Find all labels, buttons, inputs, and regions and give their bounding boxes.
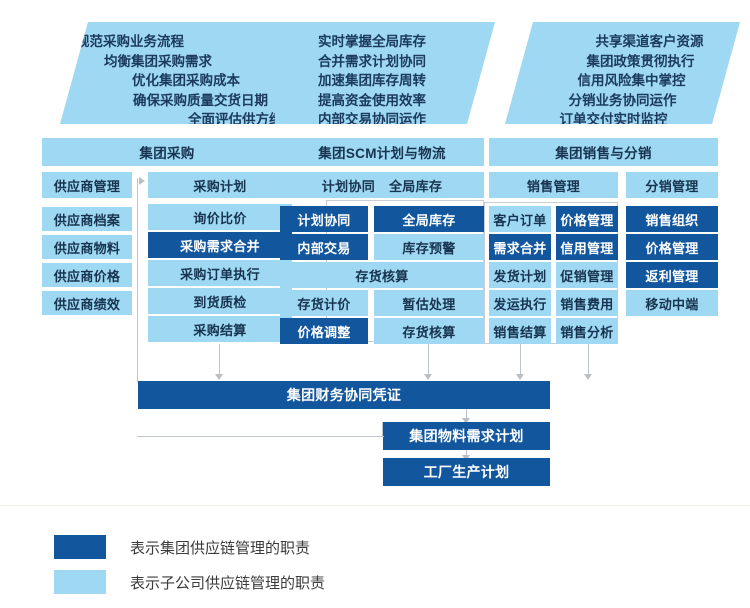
distribution-item[interactable]: 价格管理 [626,234,718,260]
banner-line: 订单交付实时监控 [487,110,740,130]
supplier-item[interactable]: 供应商绩效 [42,291,132,315]
scm-item[interactable]: 存货核算 [374,318,484,344]
legend-label-subsidiary: 表示子公司供应链管理的职责 [130,572,325,593]
distribution-header[interactable]: 分销管理 [626,172,718,198]
supplier-item[interactable]: 供应商价格 [42,263,132,287]
distribution-item[interactable]: 销售组织 [626,206,718,232]
connector-line-scm-to-finance [428,344,429,376]
diagram-canvas: 规范采购业务流程 均衡集团采购需求 优化集团采购成本 确保采购质量交货日期 全面… [0,0,750,608]
connector-arrow-sales2-to-finance [584,374,592,380]
legend-swatch-subsidiary [54,570,106,594]
scm-subheader-bar: 计划协同 全局库存 [280,172,484,198]
column-header-scm: 集团SCM计划与物流 [280,138,484,166]
purchase-item[interactable]: 询价比价 [148,204,292,230]
connector-line-sales2-to-finance [588,344,589,376]
banner-procurement-goals: 规范采购业务流程 均衡集团采购需求 优化集团采购成本 确保采购质量交货日期 全面… [60,22,310,124]
banner-line: 合并需求计划协同 [275,52,469,72]
scm-item[interactable]: 价格调整 [280,318,368,344]
scm-subheader-left: 计划协同 [322,176,375,195]
legend-label-group: 表示集团供应链管理的职责 [130,537,310,558]
banner-line: 集团政策贯彻执行 [505,52,740,72]
connector-arrow-sales-to-finance [516,374,524,380]
banner-line: 内部交易协同运作 [275,110,469,130]
connector-line-purchase-rail [137,178,138,382]
legend-row-group: 表示集团供应链管理的职责 [54,535,310,559]
banner-line: 规范采购业务流程 [74,32,296,52]
connector-line-purchase-to-finance [219,344,220,376]
banner-line: 全面评估供方绩效 [74,110,296,130]
supplier-item[interactable]: 供应商物料 [42,235,132,259]
banner-line: 确保采购质量交货日期 [74,91,296,111]
scm-subheader-right: 全局库存 [389,176,442,195]
material-requirement-plan-bar[interactable]: 集团物料需求计划 [383,422,550,450]
sales-item[interactable]: 发货计划 [489,262,551,288]
banner-line: 均衡集团采购需求 [74,52,296,72]
purchase-item[interactable]: 采购需求合并 [148,232,292,258]
purchase-item[interactable]: 采购订单执行 [148,260,292,286]
banner-scm-goals: 实时掌握全局库存 合并需求计划协同 加速集团库存周转 提高资金使用效率 内部交易… [275,22,495,124]
banner-line: 信用风险集中掌控 [505,71,740,91]
banner-line: 加速集团库存周转 [275,71,469,91]
banner-line: 提高资金使用效率 [275,91,469,111]
column-header-sales: 集团销售与分销 [489,138,718,166]
purchase-item[interactable]: 采购结算 [148,316,292,342]
connector-arrow-scm-to-finance [424,374,432,380]
sales-item[interactable]: 销售费用 [556,290,618,316]
sales-management-header[interactable]: 销售管理 [489,172,618,198]
banner-line: 共享渠道客户资源 [505,32,740,52]
banner-line: 实时掌握全局库存 [275,32,469,52]
banner-line: 优化集团采购成本 [74,71,296,91]
connector-line-feedback-riser [382,422,383,436]
sales-item[interactable]: 促销管理 [556,262,618,288]
distribution-item[interactable]: 移动中端 [626,290,718,316]
purchase-header[interactable]: 采购计划 [148,172,292,198]
legend-swatch-group [54,535,106,559]
connector-line-sales-to-finance [520,344,521,376]
scm-item[interactable]: 存货计价 [280,290,368,316]
connector-arrow-purchase-to-finance [215,374,223,380]
sales-item[interactable]: 需求合并 [489,234,551,260]
sales-item[interactable]: 客户订单 [489,206,551,232]
connector-arrow-purchase [139,177,145,185]
distribution-item[interactable]: 返利管理 [626,262,718,288]
finance-voucher-bar[interactable]: 集团财务协同凭证 [138,381,550,409]
purchase-item[interactable]: 到货质检 [148,288,292,314]
legend-divider [0,505,750,506]
factory-production-plan-bar[interactable]: 工厂生产计划 [383,458,550,486]
banner-sales-goals: 共享渠道客户资源 集团政策贯彻执行 信用风险集中掌控 分销业务协同运作 订单交付… [505,22,740,124]
sales-item[interactable]: 发运执行 [489,290,551,316]
banner-line: 分销业务协同运作 [505,91,740,111]
legend-row-subsidiary: 表示子公司供应链管理的职责 [54,570,325,594]
sales-item[interactable]: 信用管理 [556,234,618,260]
supplier-item[interactable]: 供应商档案 [42,207,132,231]
scm-item[interactable]: 内部交易 [280,234,368,260]
sales-item[interactable]: 价格管理 [556,206,618,232]
sales-item[interactable]: 销售分析 [556,318,618,344]
scm-item[interactable]: 暂估处理 [374,290,484,316]
scm-item[interactable]: 库存预警 [374,234,484,260]
scm-inventory-accounting-header[interactable]: 存货核算 [280,262,484,288]
scm-item[interactable]: 计划协同 [280,206,368,232]
sales-item[interactable]: 销售结算 [489,318,551,344]
column-header-procurement: 集团采购 [42,138,292,166]
connector-line-feedback [137,436,383,437]
scm-item[interactable]: 全局库存 [374,206,484,232]
supplier-header[interactable]: 供应商管理 [42,172,132,198]
